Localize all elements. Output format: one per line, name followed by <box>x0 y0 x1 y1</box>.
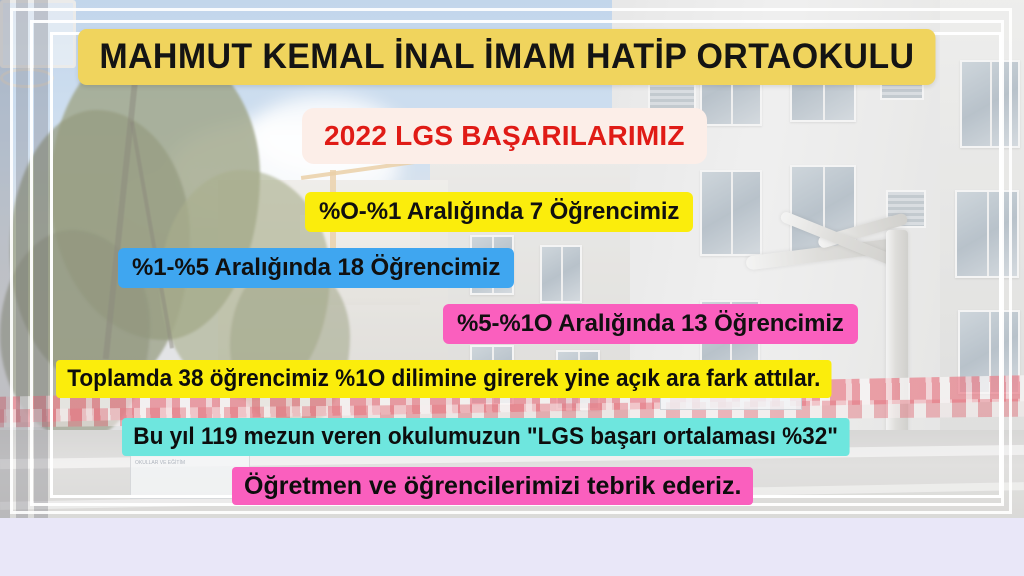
window <box>700 170 762 256</box>
window <box>540 245 582 303</box>
basketball-backboard <box>0 0 76 68</box>
page-title: MAHMUT KEMAL İNAL İMAM HATİP ORTAOKULU <box>78 29 936 85</box>
subtitle-banner: 2022 LGS BAŞARILARIMIZ <box>302 108 707 164</box>
basketball-ring <box>0 68 54 88</box>
bottom-plate <box>0 518 1024 576</box>
stat-line-5-10-percent: %5-%1O Aralığında 13 Öğrencimiz <box>443 304 858 344</box>
stat-line-1-5-percent: %1-%5 Aralığında 18 Öğrencimiz <box>118 248 514 288</box>
stat-line-0-1-percent: %O-%1 Aralığında 7 Öğrencimiz <box>305 192 693 232</box>
stat-line-total: Toplamda 38 öğrencimiz %1O dilimine gire… <box>56 360 832 398</box>
window <box>960 60 1020 148</box>
poster-canvas: İMAM HATİP ORTAOKULU OKULLAR VE EĞİTİM M… <box>0 0 1024 576</box>
stat-line-average: Bu yıl 119 mezun veren okulumuzun "LGS b… <box>122 418 849 456</box>
congratulations-line: Öğretmen ve öğrencilerimizi tebrik ederi… <box>232 467 753 505</box>
window <box>955 190 1019 278</box>
